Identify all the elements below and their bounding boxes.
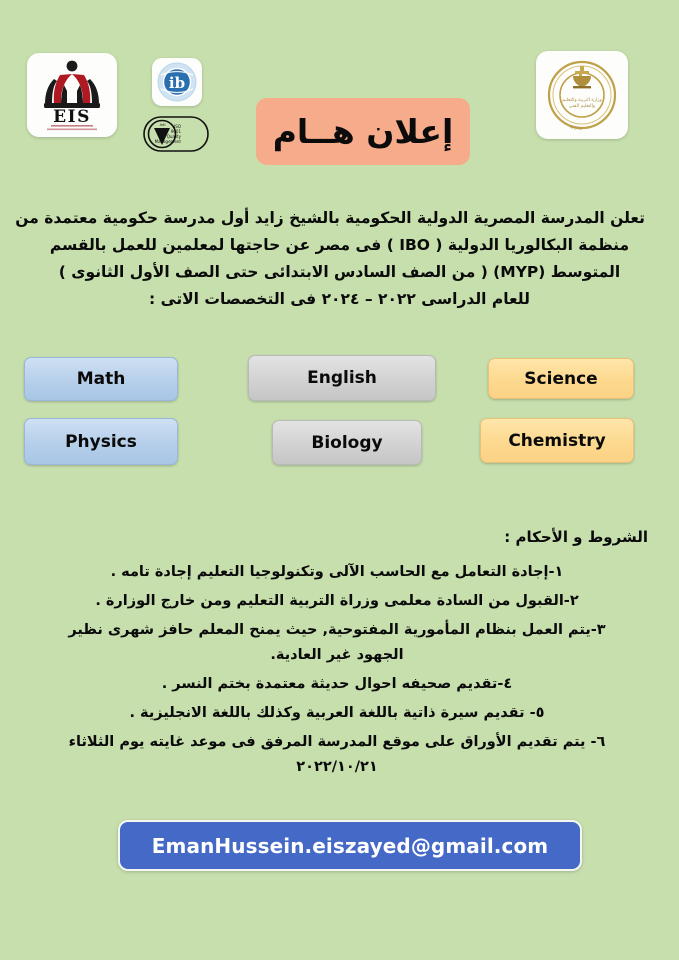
terms-list: ١-إجادة التعامل مع الحاسب الآلى وتكنولوج…	[26, 560, 648, 780]
terms-item: ٣-يتم العمل بنظام المأمورية المفتوحية, ح…	[26, 618, 648, 668]
svg-text:EIS: EIS	[53, 107, 91, 127]
terms-deadline-date: ٢٠٢٢/١٠/٢١	[26, 755, 648, 780]
subject-chip-science[interactable]: Science	[488, 358, 634, 399]
page-title: إعلان هــام	[273, 115, 454, 148]
terms-item: ٦- يتم تقديم الأوراق على موقع المدرسة ال…	[26, 730, 648, 780]
announcement-line-3-part-b: ) ( من الصف السادس الابتدائى حتى الصف ال…	[59, 263, 500, 281]
subject-chip-chemistry[interactable]: Chemistry	[480, 418, 634, 463]
announcement-line-1: تعلن المدرسة المصرية الدولية الحكومية با…	[34, 205, 645, 232]
iso-certification-logo: Intl. ISO 9001 Quality Management	[142, 112, 210, 156]
announcement-line-2-part-b: ) فى مصر عن حاجتها لمعلمين للعمل بالقسم	[50, 236, 399, 254]
terms-item-text: ٦- يتم تقديم الأوراق على موقع المدرسة ال…	[69, 734, 606, 750]
terms-item-text: ٢-القبول من السادة معلمى وزراة التربية ا…	[95, 593, 578, 609]
announcement-poster: EIS ib Intl. ISO 9001 Quality Management	[0, 0, 679, 960]
subject-chip-english[interactable]: English	[248, 355, 436, 401]
contact-email-button[interactable]: EmanHussein.eiszayed@gmail.com	[118, 820, 582, 871]
terms-item: ٢-القبول من السادة معلمى وزراة التربية ا…	[26, 589, 648, 614]
announcement-line-3: المتوسط (MYP) ( من الصف السادس الابتدائى…	[34, 259, 645, 286]
terms-item-continuation: الجهود غير العادية.	[26, 643, 648, 668]
terms-item-text: ١-إجادة التعامل مع الحاسب الآلى وتكنولوج…	[111, 564, 564, 580]
svg-text:وزارة التربية والتعليم: وزارة التربية والتعليم	[562, 98, 601, 103]
subject-label: Science	[524, 369, 597, 389]
svg-text:Management: Management	[155, 139, 182, 144]
terms-item-text: ٥- تقديم سيرة ذاتية باللغة العربية وكذلك…	[130, 705, 545, 721]
terms-item-text: ٤-تقديم صحيفه احوال حديثة معتمدة بختم ال…	[162, 676, 512, 692]
terms-heading: الشروط و الأحكام :	[26, 528, 648, 546]
terms-item: ٥- تقديم سيرة ذاتية باللغة العربية وكذلك…	[26, 701, 648, 726]
ministry-seal-graphic: وزارة التربية والتعليم والتعليم الفني MI…	[542, 55, 622, 135]
announcement-title-banner: إعلان هــام	[256, 98, 470, 165]
terms-item: ٤-تقديم صحيفه احوال حديثة معتمدة بختم ال…	[26, 672, 648, 697]
announcement-line-3-part-a: المتوسط (	[538, 263, 620, 281]
svg-text:Intl.: Intl.	[159, 123, 166, 127]
subject-label: Chemistry	[508, 431, 605, 451]
terms-item-text: ٣-يتم العمل بنظام المأمورية المفتوحية, ح…	[68, 622, 605, 638]
announcement-line-4: للعام الدراسى ٢٠٢٢ – ٢٠٢٤ فى التخصصات ال…	[34, 286, 645, 313]
subject-chip-math[interactable]: Math	[24, 357, 178, 401]
myp-code: MYP	[500, 259, 538, 286]
announcement-line-2: منظمة البكالوريا الدولية ( IBO ) فى مصر …	[34, 232, 645, 259]
subject-label: English	[307, 368, 377, 388]
contact-email-text: EmanHussein.eiszayed@gmail.com	[152, 834, 548, 858]
subject-list: Math English Science Physics Biology Che…	[24, 355, 656, 467]
ib-logo-graphic: ib	[156, 61, 198, 103]
eis-logo: EIS	[27, 53, 117, 137]
svg-text:والتعليم الفني: والتعليم الفني	[569, 104, 595, 109]
svg-text:ib: ib	[169, 74, 185, 92]
eis-logo-graphic: EIS	[32, 57, 112, 133]
announcement-body: تعلن المدرسة المصرية الدولية الحكومية با…	[34, 205, 645, 313]
subject-chip-physics[interactable]: Physics	[24, 418, 178, 465]
ibo-code: IBO	[399, 232, 430, 259]
iso-certification-graphic: Intl. ISO 9001 Quality Management	[143, 113, 209, 155]
terms-and-conditions: الشروط و الأحكام : ١-إجادة التعامل مع ال…	[26, 528, 648, 784]
ministry-of-education-logo: وزارة التربية والتعليم والتعليم الفني MI…	[536, 51, 628, 139]
subject-label: Biology	[311, 433, 382, 453]
ib-logo: ib	[152, 58, 202, 106]
subject-label: Physics	[65, 432, 137, 452]
subject-label: Math	[77, 369, 126, 389]
terms-item: ١-إجادة التعامل مع الحاسب الآلى وتكنولوج…	[26, 560, 648, 585]
announcement-line-2-part-a: منظمة البكالوريا الدولية (	[430, 236, 629, 254]
subject-chip-biology[interactable]: Biology	[272, 420, 422, 465]
